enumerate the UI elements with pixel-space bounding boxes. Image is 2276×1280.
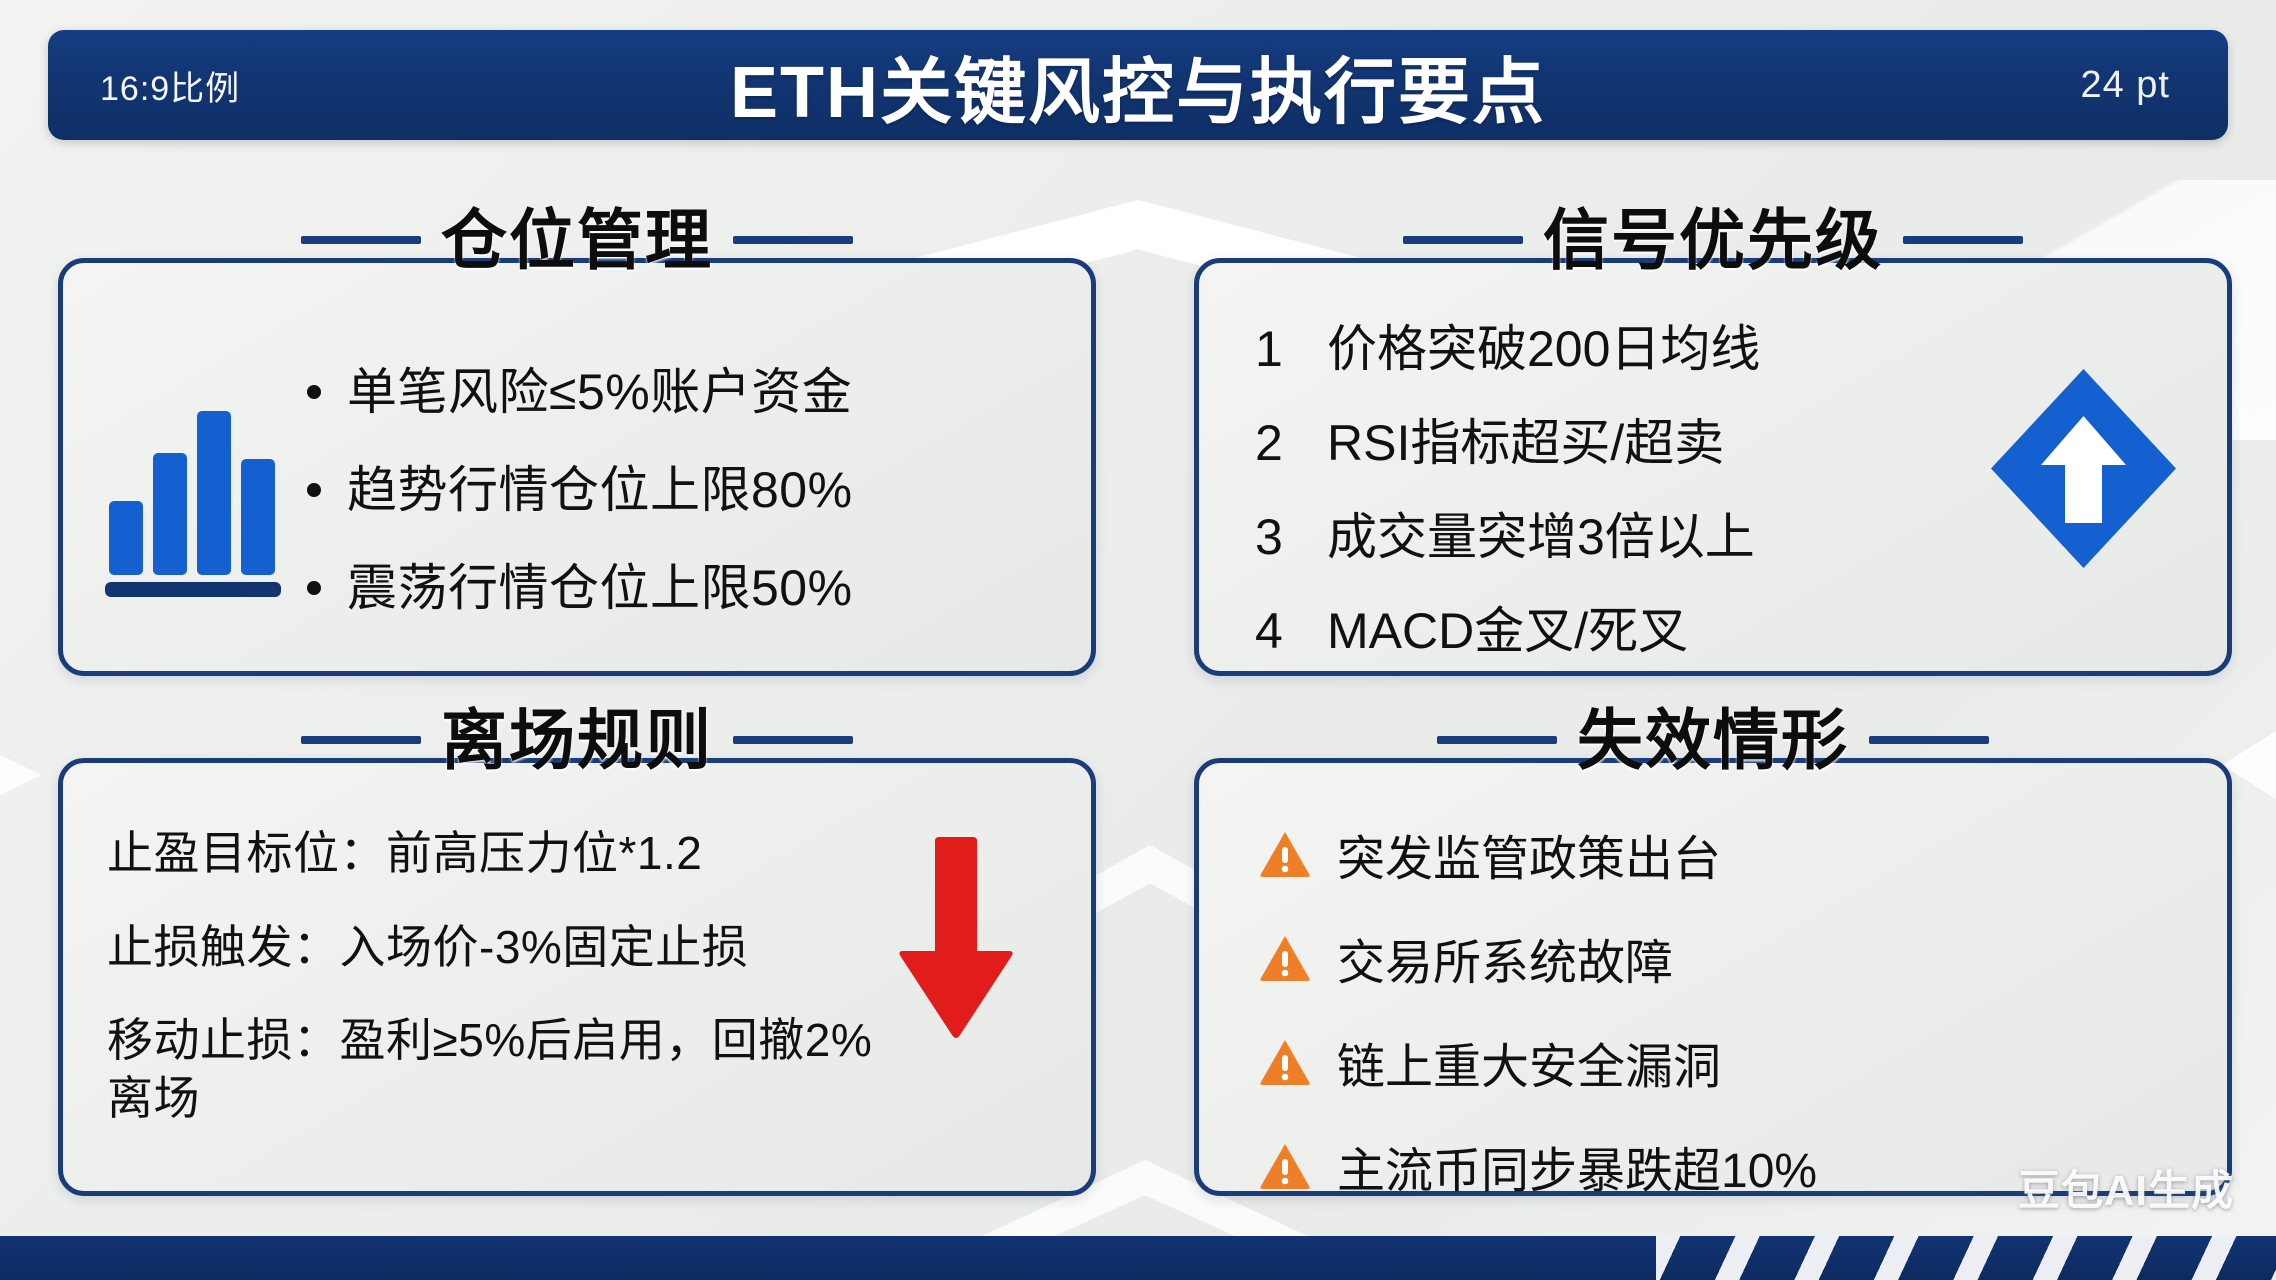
list-item-label: MACD金叉/死叉 xyxy=(1327,591,1688,663)
aspect-ratio-label: 16:9比例 xyxy=(100,61,240,110)
list-item-label: 趋势行情仓位上限80% xyxy=(347,450,853,522)
title-dash-right xyxy=(1903,236,2023,244)
list-item: 4 MACD金叉/死叉 xyxy=(1255,591,1976,663)
exit-rule-list: 止盈目标位：前高压力位*1.2 止损触发：入场价-3%固定止损 移动止损：盈利≥… xyxy=(107,825,907,1127)
diamond-up-arrow-icon xyxy=(1976,361,2191,576)
card-body-exit-rules: 止盈目标位：前高压力位*1.2 止损触发：入场价-3%固定止损 移动止损：盈利≥… xyxy=(63,763,1091,1153)
card-position-management: 仓位管理 单笔风险≤5%账户资金 趋势行情仓位上限80% xyxy=(58,258,1096,676)
warning-triangle-icon xyxy=(1259,1036,1311,1088)
list-item-label: 价格突破200日均线 xyxy=(1327,309,1760,381)
failure-warning-list: 突发监管政策出台 交易所系统故障 链上重大安 xyxy=(1259,819,2197,1201)
list-item-label: 交易所系统故障 xyxy=(1337,923,1673,993)
slide-canvas: 16:9比例 ETH关键风控与执行要点 24 pt 仓位管理 单笔风险≤5%账户… xyxy=(0,0,2276,1280)
bullet-dot-icon xyxy=(307,581,321,595)
down-arrow-icon xyxy=(897,833,1015,1043)
list-item: 主流币同步暴跌超10% xyxy=(1259,1131,2197,1201)
title-dash-right xyxy=(1869,736,1989,744)
title-dash-left xyxy=(1403,236,1523,244)
page-title: ETH关键风控与执行要点 xyxy=(48,33,2228,138)
list-item-index: 1 xyxy=(1255,320,1327,378)
list-item: 2 RSI指标超买/超卖 xyxy=(1255,403,1976,475)
card-failure-cases: 失效情形 突发监管政策出台 xyxy=(1194,758,2232,1196)
position-bullet-list: 单笔风险≤5%账户资金 趋势行情仓位上限80% 震荡行情仓位上限50% xyxy=(307,352,853,620)
list-item-label: 单笔风险≤5%账户资金 xyxy=(347,352,852,424)
title-dash-left xyxy=(1437,736,1557,744)
card-body-signal-priority: 1 价格突破200日均线 2 RSI指标超买/超卖 3 成交量突增3倍以上 4 … xyxy=(1199,263,2227,671)
signal-numbered-list: 1 价格突破200日均线 2 RSI指标超买/超卖 3 成交量突增3倍以上 4 … xyxy=(1255,309,1976,663)
list-item: 移动止损：盈利≥5%后启用，回撤2%离场 xyxy=(107,1012,907,1127)
list-item-label: 成交量突增3倍以上 xyxy=(1327,497,1755,569)
title-dash-right xyxy=(733,736,853,744)
list-item-label: 突发监管政策出台 xyxy=(1337,819,1721,889)
list-item: 3 成交量突增3倍以上 xyxy=(1255,497,1976,569)
warning-triangle-icon xyxy=(1259,828,1311,880)
bar-chart-icon xyxy=(103,383,293,598)
bottom-bar xyxy=(0,1236,2276,1280)
list-item: 单笔风险≤5%账户资金 xyxy=(307,352,853,424)
list-item-index: 3 xyxy=(1255,508,1327,566)
card-signal-priority: 信号优先级 1 价格突破200日均线 2 RSI指标超买/超卖 3 成交量突增3… xyxy=(1194,258,2232,676)
list-item-label: 主流币同步暴跌超10% xyxy=(1337,1131,1817,1201)
bottom-diagonal-stripes xyxy=(1656,1236,2276,1280)
title-dash-right xyxy=(733,236,853,244)
list-item-label: RSI指标超买/超卖 xyxy=(1327,403,1724,475)
title-dash-left xyxy=(301,736,421,744)
list-item: 趋势行情仓位上限80% xyxy=(307,450,853,522)
list-item-label: 链上重大安全漏洞 xyxy=(1337,1027,1721,1097)
list-item-index: 2 xyxy=(1255,414,1327,472)
list-item-index: 4 xyxy=(1255,602,1327,660)
warning-triangle-icon xyxy=(1259,1140,1311,1192)
bullet-dot-icon xyxy=(307,483,321,497)
card-body-position-management: 单笔风险≤5%账户资金 趋势行情仓位上限80% 震荡行情仓位上限50% xyxy=(63,263,1091,671)
list-item: 交易所系统故障 xyxy=(1259,923,2197,993)
list-item-label: 震荡行情仓位上限50% xyxy=(347,548,853,620)
bullet-dot-icon xyxy=(307,385,321,399)
list-item: 震荡行情仓位上限50% xyxy=(307,548,853,620)
list-item: 链上重大安全漏洞 xyxy=(1259,1027,2197,1097)
header-banner: 16:9比例 ETH关键风控与执行要点 24 pt xyxy=(48,30,2228,140)
list-item: 止损触发：入场价-3%固定止损 xyxy=(107,919,907,977)
font-size-label: 24 pt xyxy=(2080,64,2170,107)
title-dash-left xyxy=(301,236,421,244)
warning-triangle-icon xyxy=(1259,932,1311,984)
list-item: 1 价格突破200日均线 xyxy=(1255,309,1976,381)
list-item: 突发监管政策出台 xyxy=(1259,819,2197,889)
card-body-failure-cases: 突发监管政策出台 交易所系统故障 链上重大安 xyxy=(1199,763,2227,1191)
card-exit-rules: 离场规则 止盈目标位：前高压力位*1.2 止损触发：入场价-3%固定止损 移动止… xyxy=(58,758,1096,1196)
list-item: 止盈目标位：前高压力位*1.2 xyxy=(107,825,907,883)
